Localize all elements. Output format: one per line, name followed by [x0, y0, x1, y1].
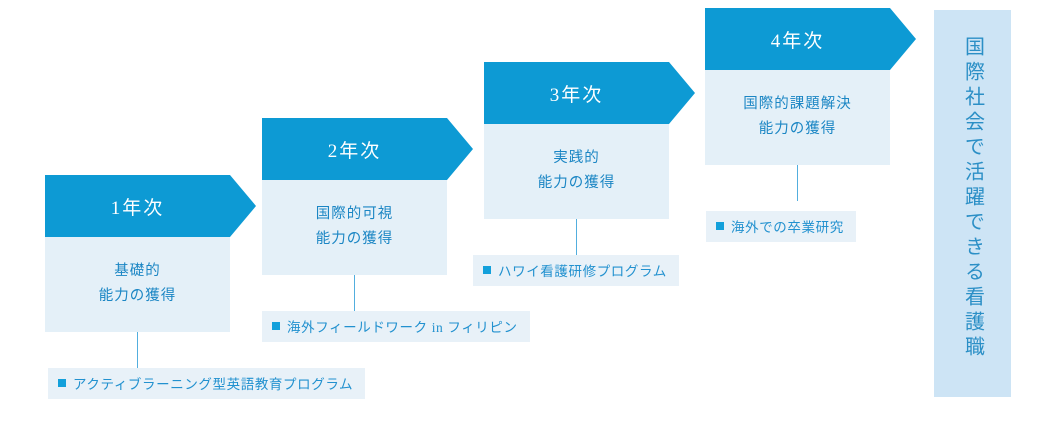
- program-chip-3-label: ハワイ看護研修プログラム: [498, 260, 667, 280]
- arrow-right-icon: [669, 62, 695, 124]
- step-2-goal-line-1: 国際的可視: [262, 202, 447, 227]
- step-year-4: 4年次 国際的課題解決 能力の獲得: [705, 8, 890, 165]
- step-2-goal-line-2: 能力の獲得: [262, 227, 447, 252]
- connector-step-4: [797, 165, 798, 201]
- step-3-goal-line-1: 実践的: [484, 146, 669, 171]
- step-3-goal-line-2: 能力の獲得: [484, 171, 669, 196]
- outcome-label: 国際社会で活躍できる看護職: [934, 10, 1011, 397]
- step-4-year-label: 4年次: [771, 26, 825, 53]
- step-2-year-label: 2年次: [328, 136, 382, 163]
- bullet-square-icon: [483, 266, 491, 274]
- step-1-header: 1年次: [45, 175, 230, 237]
- program-chip-3: ハワイ看護研修プログラム: [473, 255, 679, 286]
- step-3-header: 3年次: [484, 62, 669, 124]
- program-chip-4: 海外での卒業研究: [706, 211, 856, 242]
- outcome-panel: 国際社会で活躍できる看護職: [934, 10, 1011, 397]
- step-year-1: 1年次 基礎的 能力の獲得: [45, 175, 230, 332]
- step-2-header: 2年次: [262, 118, 447, 180]
- step-1-year-label: 1年次: [111, 193, 165, 220]
- program-chip-4-label: 海外での卒業研究: [731, 216, 844, 236]
- step-4-header: 4年次: [705, 8, 890, 70]
- program-chip-2: 海外フィールドワーク in フィリピン: [262, 311, 530, 342]
- step-4-goal-line-1: 国際的課題解決: [705, 92, 890, 117]
- career-progression-diagram: 1年次 基礎的 能力の獲得 アクティブラーニング型英語教育プログラム 2年次 国…: [0, 0, 1051, 421]
- step-3-year-label: 3年次: [550, 80, 604, 107]
- program-chip-1-label: アクティブラーニング型英語教育プログラム: [73, 373, 353, 393]
- step-year-3: 3年次 実践的 能力の獲得: [484, 62, 669, 219]
- connector-step-2: [354, 275, 355, 311]
- step-2-goal: 国際的可視 能力の獲得: [262, 180, 447, 275]
- bullet-square-icon: [58, 379, 66, 387]
- step-1-goal-line-2: 能力の獲得: [45, 284, 230, 309]
- bullet-square-icon: [272, 322, 280, 330]
- connector-step-3: [576, 219, 577, 255]
- bullet-square-icon: [716, 222, 724, 230]
- arrow-right-icon: [890, 8, 916, 70]
- program-chip-1: アクティブラーニング型英語教育プログラム: [48, 368, 365, 399]
- step-4-goal-line-2: 能力の獲得: [705, 117, 890, 142]
- step-year-2: 2年次 国際的可視 能力の獲得: [262, 118, 447, 275]
- step-1-goal-line-1: 基礎的: [45, 259, 230, 284]
- step-1-goal: 基礎的 能力の獲得: [45, 237, 230, 332]
- program-chip-2-label: 海外フィールドワーク in フィリピン: [287, 316, 518, 336]
- step-3-goal: 実践的 能力の獲得: [484, 124, 669, 219]
- connector-step-1: [137, 332, 138, 368]
- arrow-right-icon: [230, 175, 256, 237]
- step-4-goal: 国際的課題解決 能力の獲得: [705, 70, 890, 165]
- arrow-right-icon: [447, 118, 473, 180]
